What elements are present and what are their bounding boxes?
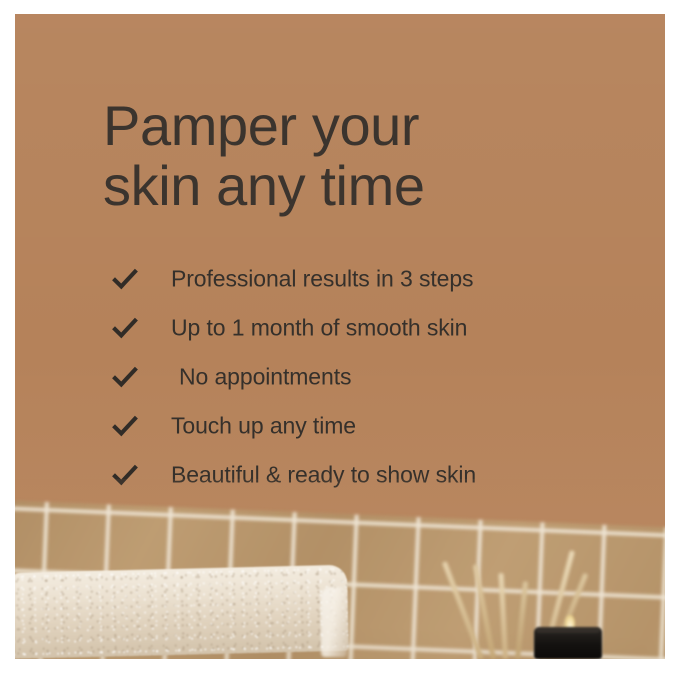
check-icon	[112, 315, 138, 341]
spa-photo	[15, 479, 665, 659]
list-item-label: No appointments	[179, 363, 351, 390]
page-title: Pamper your skin any time	[103, 96, 623, 217]
benefits-list: Professional results in 3 steps Up to 1 …	[103, 254, 643, 499]
list-item: No appointments	[103, 352, 643, 401]
list-item: Up to 1 month of smooth skin	[103, 303, 643, 352]
candle-rim	[536, 627, 600, 633]
towel-texture	[15, 565, 349, 659]
list-item-label: Professional results in 3 steps	[171, 265, 473, 292]
list-item: Professional results in 3 steps	[103, 254, 643, 303]
list-item-label: Up to 1 month of smooth skin	[171, 314, 467, 341]
poster-panel: Pamper your skin any time Professional r…	[15, 14, 665, 659]
rolled-towel	[15, 573, 349, 659]
promotional-poster: Pamper your skin any time Professional r…	[0, 0, 679, 679]
towel-fold-end	[321, 587, 347, 657]
candle	[534, 619, 602, 659]
check-icon	[112, 266, 138, 292]
check-icon	[112, 364, 138, 390]
check-icon	[112, 413, 138, 439]
list-item-label: Touch up any time	[171, 412, 356, 439]
candle-body	[534, 627, 602, 659]
list-item: Touch up any time	[103, 401, 643, 450]
